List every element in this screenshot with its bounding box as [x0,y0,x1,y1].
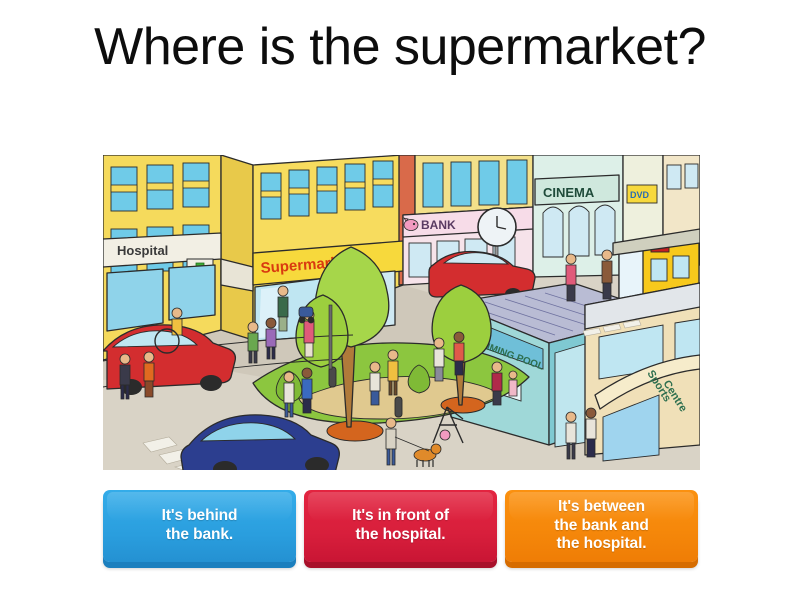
answer-line: the bank and [554,517,648,536]
answer-line: the hospital. [352,526,449,545]
answer-line: the hospital. [554,535,648,554]
answer-option-in-front-of-the-hospital[interactable]: It's in front of the hospital. [304,490,497,562]
answer-option-behind-the-bank[interactable]: It's behind the bank. [103,490,296,562]
lamp-post [329,305,332,369]
cinema-sign: CINEMA [543,185,595,200]
page-title: Where is the supermarket? [60,18,740,76]
answer-line: It's between [554,498,648,517]
quiz-screen: Where is the supermarket? .ol { stroke:#… [0,0,800,600]
hospital-sign: Hospital [117,243,168,258]
answer-line: It's in front of [352,507,449,526]
answer-options: It's behind the bank. It's in front of t… [103,490,698,572]
street-scene-illustration: .ol { stroke:#2b2b2b; stroke-width:1.3; … [103,155,700,470]
answer-line: It's behind [162,507,238,526]
street-scene-svg: .ol { stroke:#2b2b2b; stroke-width:1.3; … [103,155,700,470]
bank-sign: BANK [421,218,456,232]
dvd-sign: DVD [630,190,650,200]
sports-centre-building: Sports Centre [585,283,700,461]
answer-option-between-the-bank-and-the-hospital[interactable]: It's between the bank and the hospital. [505,490,698,562]
answer-line: the bank. [162,526,238,545]
